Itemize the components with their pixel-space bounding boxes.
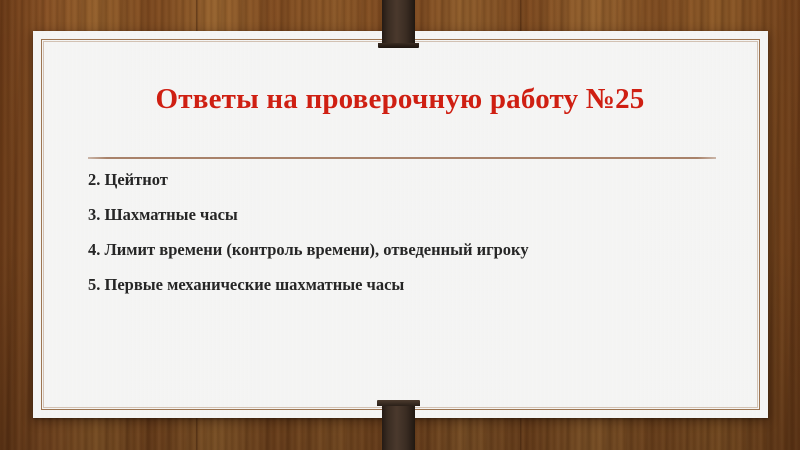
list-item: 5. Первые механические шахматные часы bbox=[88, 277, 740, 294]
page-title: Ответы на проверочную работу №25 bbox=[0, 84, 800, 115]
title-divider bbox=[88, 157, 716, 159]
clip-bottom bbox=[382, 400, 415, 450]
answers-list: 2. Цейтнот 3. Шахматные часы 4. Лимит вр… bbox=[88, 172, 740, 312]
list-item: 2. Цейтнот bbox=[88, 172, 740, 189]
clip-top bbox=[382, 0, 415, 48]
list-item: 4. Лимит времени (контроль времени), отв… bbox=[88, 242, 740, 259]
presentation-slide: Ответы на проверочную работу №25 2. Цейт… bbox=[0, 0, 800, 450]
slide-content: Ответы на проверочную работу №25 2. Цейт… bbox=[0, 0, 800, 450]
list-item: 3. Шахматные часы bbox=[88, 207, 740, 224]
